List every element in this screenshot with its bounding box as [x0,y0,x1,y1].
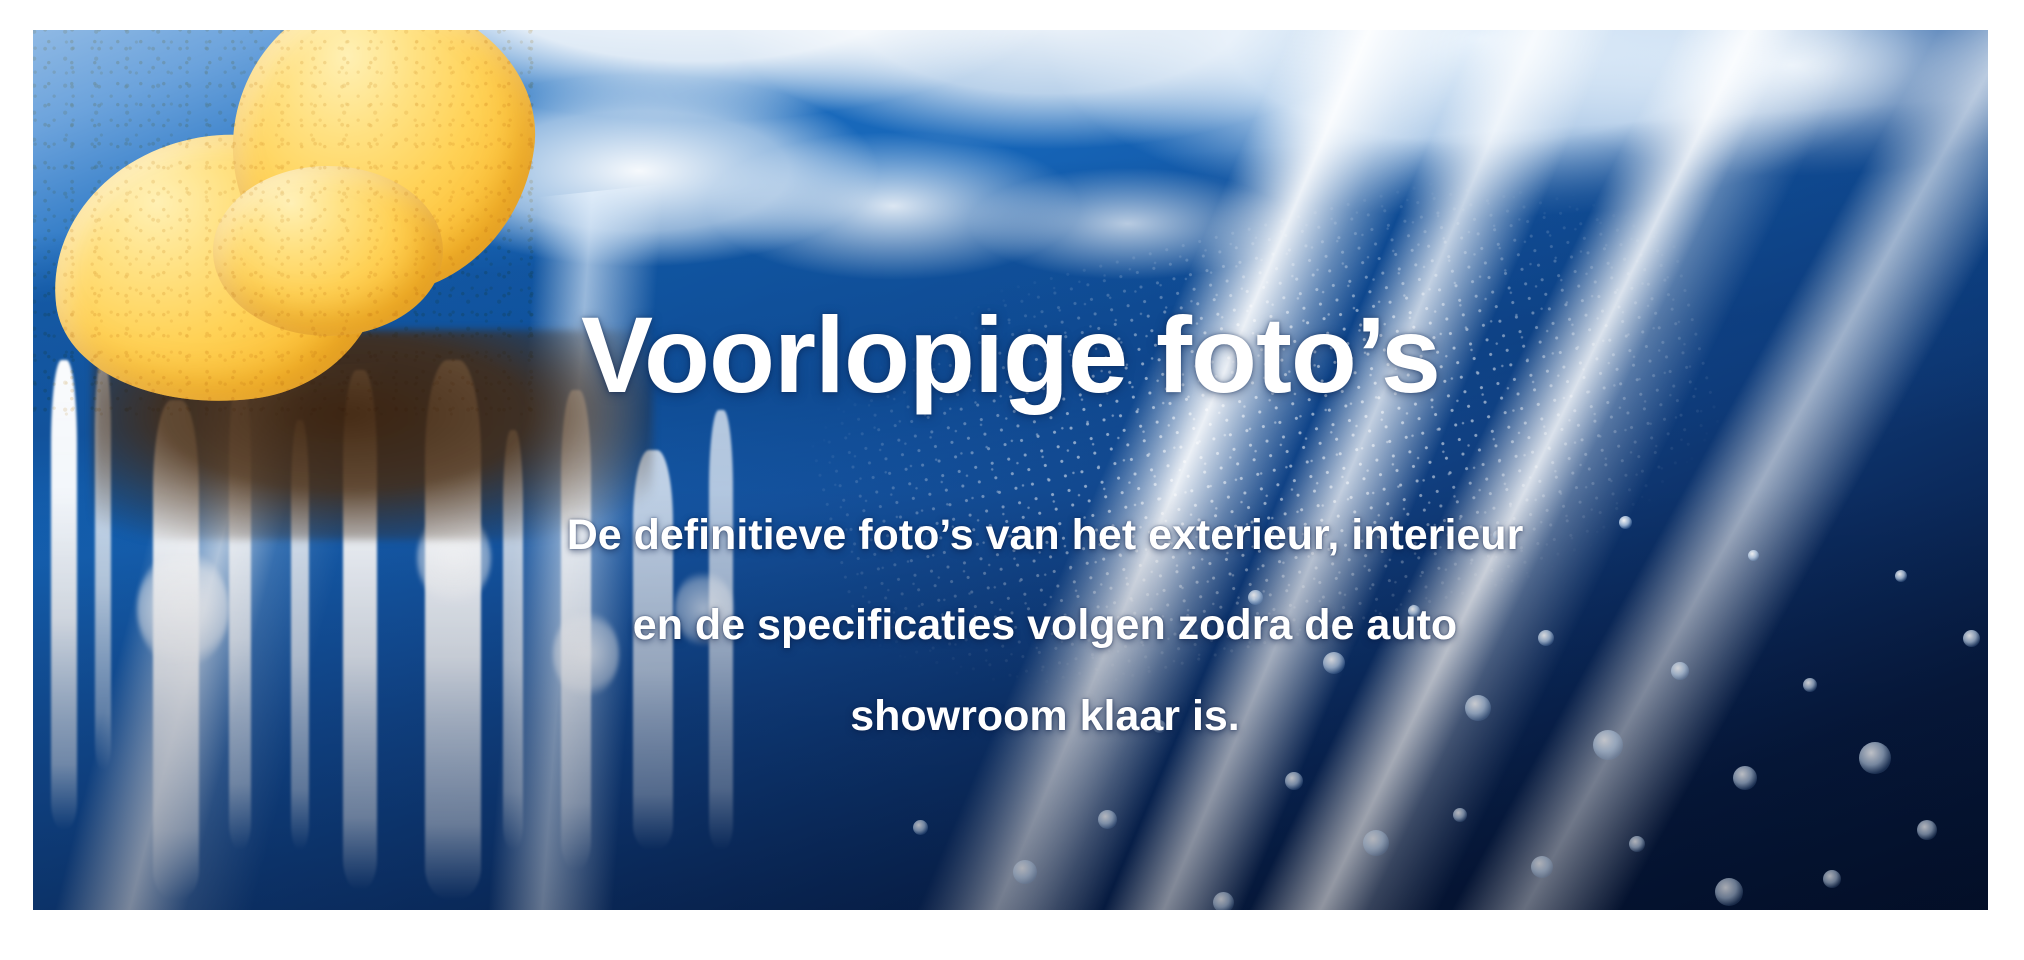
body-line: showroom klaar is. [333,671,1757,761]
page-title: Voorlopige foto’s [33,298,1988,412]
body-line: en de specificaties volgen zodra de auto [333,580,1757,670]
background-photo: Voorlopige foto’s De definitieve foto’s … [33,30,1988,910]
body-line: De definitieve foto’s van het exterieur,… [333,490,1757,580]
slide-body-text: De definitieve foto’s van het exterieur,… [333,490,1757,761]
slide-canvas: Voorlopige foto’s De definitieve foto’s … [0,0,2024,960]
photo-vignette [33,30,1988,910]
